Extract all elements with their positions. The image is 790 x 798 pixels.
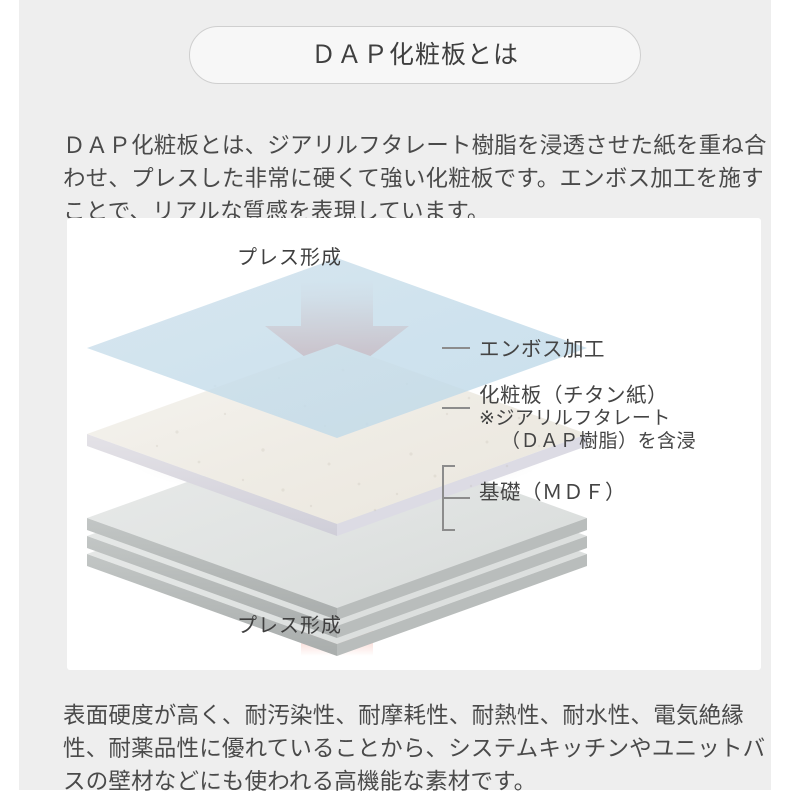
content-background: ＤＡＰ化粧板とは ＤＡＰ化粧板とは、ジアリルフタレート樹脂を浸透させた紙を重ね合… bbox=[19, 0, 771, 790]
page-title-pill: ＤＡＰ化粧板とは bbox=[189, 26, 641, 84]
page-title: ＤＡＰ化粧板とは bbox=[311, 43, 519, 68]
callout-emboss: エンボス加工 bbox=[479, 338, 605, 362]
intro-paragraph: ＤＡＰ化粧板とは、ジアリルフタレート樹脂を浸透させた紙を重ね合わせ、プレスした非… bbox=[63, 129, 773, 228]
callout-decorative-paper-line1: 化粧板（チタン紙） bbox=[479, 384, 668, 407]
outro-paragraph: 表面硬度が高く、耐汚染性、耐摩耗性、耐熱性、耐水性、電気絶縁性、耐薬品性に優れて… bbox=[63, 699, 777, 798]
callout-decorative-paper-line3: （ＤＡＰ樹脂）を含浸 bbox=[479, 431, 696, 453]
press-label-bottom: プレス形成 bbox=[237, 616, 342, 636]
diagram-panel: プレス形成 プレス形成 エンボス加工 化粧板（チタン紙） ※ジアリルフタレート … bbox=[67, 218, 761, 670]
press-label-top: プレス形成 bbox=[237, 248, 342, 268]
callout-decorative-paper: 化粧板（チタン紙） ※ジアリルフタレート （ＤＡＰ樹脂）を含浸 bbox=[479, 384, 696, 453]
callout-decorative-paper-line2: ※ジアリルフタレート bbox=[479, 408, 696, 430]
page-root: ＤＡＰ化粧板とは ＤＡＰ化粧板とは、ジアリルフタレート樹脂を浸透させた紙を重ね合… bbox=[0, 0, 790, 790]
callout-mdf: 基礎（ＭＤＦ） bbox=[479, 481, 626, 505]
